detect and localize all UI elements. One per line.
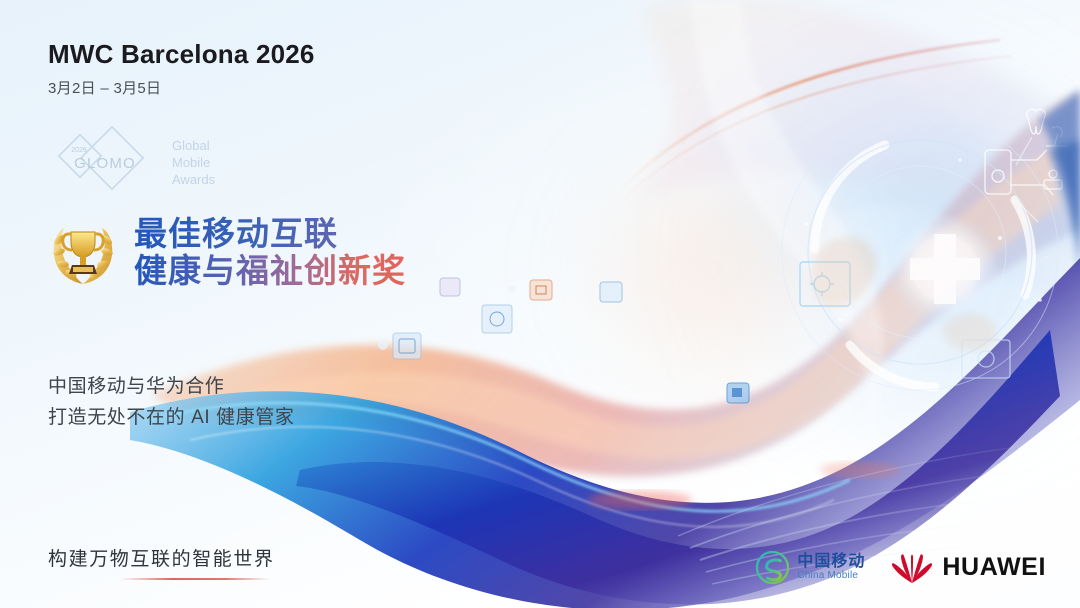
award-headline-block: 最佳移动互联 健康与福祉创新奖 xyxy=(46,216,406,290)
glomo-wordmark: GLOMO xyxy=(74,155,136,172)
award-line-1: 最佳移动互联 xyxy=(134,216,406,253)
tagline-underline xyxy=(120,578,270,580)
header-block: MWC Barcelona 2026 3月2日 – 3月5日 xyxy=(48,40,315,98)
peach-glow xyxy=(560,150,860,390)
body-line-2: 打造无处不在的 AI 健康管家 xyxy=(48,403,295,434)
health-tech-hud-group xyxy=(782,109,1068,390)
award-line-2: 健康与福祉创新奖 xyxy=(134,253,406,290)
china-mobile-en: China Mobile xyxy=(797,571,865,582)
floating-cube-icons xyxy=(378,278,749,403)
china-mobile-logo: 中国移动 China Mobile xyxy=(756,551,865,584)
glomo-year-text: 2026 xyxy=(71,147,87,154)
trophy-laurel-icon xyxy=(46,216,120,290)
tagline-block: 构建万物互联的智能世界 xyxy=(48,544,275,580)
poster-canvas: MWC Barcelona 2026 3月2日 – 3月5日 2026 GLOM… xyxy=(0,0,1080,608)
body-copy-block: 中国移动与华为合作 打造无处不在的 AI 健康管家 xyxy=(48,372,295,434)
china-mobile-wordmark: 中国移动 China Mobile xyxy=(797,553,865,582)
huawei-logo: HUAWEI xyxy=(891,553,1046,583)
event-date-range: 3月2日 – 3月5日 xyxy=(48,77,315,98)
glomo-line1: Global xyxy=(172,138,210,153)
huawei-fan-icon xyxy=(891,553,933,583)
body-line-1: 中国移动与华为合作 xyxy=(48,372,295,403)
tagline-text: 构建万物互联的智能世界 xyxy=(48,544,275,571)
glomo-diamond-logo-icon: 2026 GLOMO Global Mobile Awards xyxy=(48,124,258,196)
glomo-line2: Mobile xyxy=(172,155,210,170)
china-mobile-cn: 中国移动 xyxy=(797,553,865,570)
glomo-line3: Awards xyxy=(172,172,216,187)
hand-tablet-shape xyxy=(812,204,1000,352)
blue-glow xyxy=(700,60,1080,440)
huawei-wordmark: HUAWEI xyxy=(942,553,1046,582)
china-mobile-swirl-icon xyxy=(756,551,789,584)
partner-logos: 中国移动 China Mobile HUAWEI xyxy=(756,551,1046,584)
page-title: MWC Barcelona 2026 xyxy=(48,40,315,70)
glomo-awards-badge: 2026 GLOMO Global Mobile Awards xyxy=(48,124,258,196)
white-glow xyxy=(640,180,980,480)
award-name-text: 最佳移动互联 健康与福祉创新奖 xyxy=(134,216,406,290)
